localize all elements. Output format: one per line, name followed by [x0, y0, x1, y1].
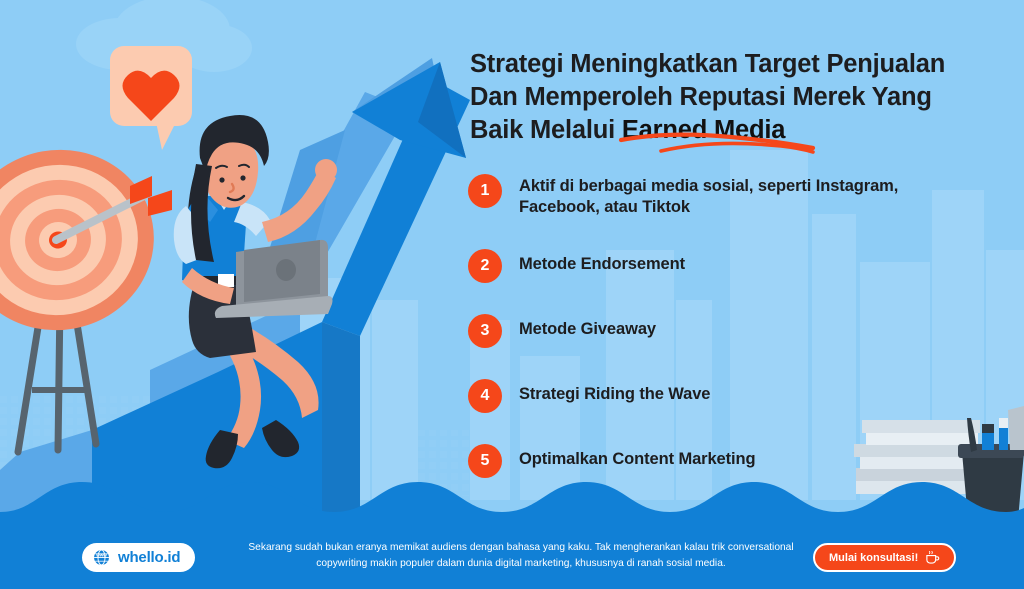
list-item-label: Metode Endorsement [519, 251, 685, 275]
list-item[interactable]: 5 Optimalkan Content Marketing [468, 446, 968, 478]
infographic-canvas: Strategi Meningkatkan Target Penjualan D… [0, 0, 1024, 589]
list-item[interactable]: 1 Aktif di berbagai media sosial, sepert… [468, 176, 968, 218]
headline-prefix: Baik Melalui [470, 116, 622, 144]
cta-label: Mulai konsultasi! [829, 552, 918, 564]
globe-www-icon: www [93, 549, 110, 566]
headline-emphasis: Earned Media [622, 116, 785, 144]
headline-line-3: Baik Melalui Earned Media [470, 114, 970, 147]
ruler-icon [1008, 406, 1024, 450]
list-number-badge: 1 [468, 174, 502, 208]
headline-line-1: Strategi Meningkatkan Target Penjualan [470, 48, 970, 81]
whello-logo[interactable]: www whello.id [82, 543, 195, 572]
list-number-badge: 5 [468, 444, 502, 478]
coffee-cup-icon [925, 551, 940, 565]
list-number-badge: 4 [468, 379, 502, 413]
list-item[interactable]: 3 Metode Giveaway [468, 316, 968, 348]
list-item-label: Optimalkan Content Marketing [519, 446, 755, 470]
list-number-badge: 2 [468, 249, 502, 283]
list-number-badge: 3 [468, 314, 502, 348]
list-item-label: Metode Giveaway [519, 316, 656, 340]
list-item[interactable]: 2 Metode Endorsement [468, 251, 968, 283]
strategy-list: 1 Aktif di berbagai media sosial, sepert… [468, 176, 968, 478]
page-title: Strategi Meningkatkan Target Penjualan D… [470, 48, 970, 147]
svg-text:www: www [95, 553, 107, 558]
list-item[interactable]: 4 Strategi Riding the Wave [468, 381, 968, 413]
start-consultation-button[interactable]: Mulai konsultasi! [813, 543, 956, 572]
logo-label: whello.id [118, 549, 180, 566]
list-item-label: Aktif di berbagai media sosial, seperti … [519, 176, 968, 218]
list-item-label: Strategi Riding the Wave [519, 381, 710, 405]
headline-line-2: Dan Memperoleh Reputasi Merek Yang [470, 81, 970, 114]
footer-description: Sekarang sudah bukan eranya memikat audi… [232, 540, 810, 572]
